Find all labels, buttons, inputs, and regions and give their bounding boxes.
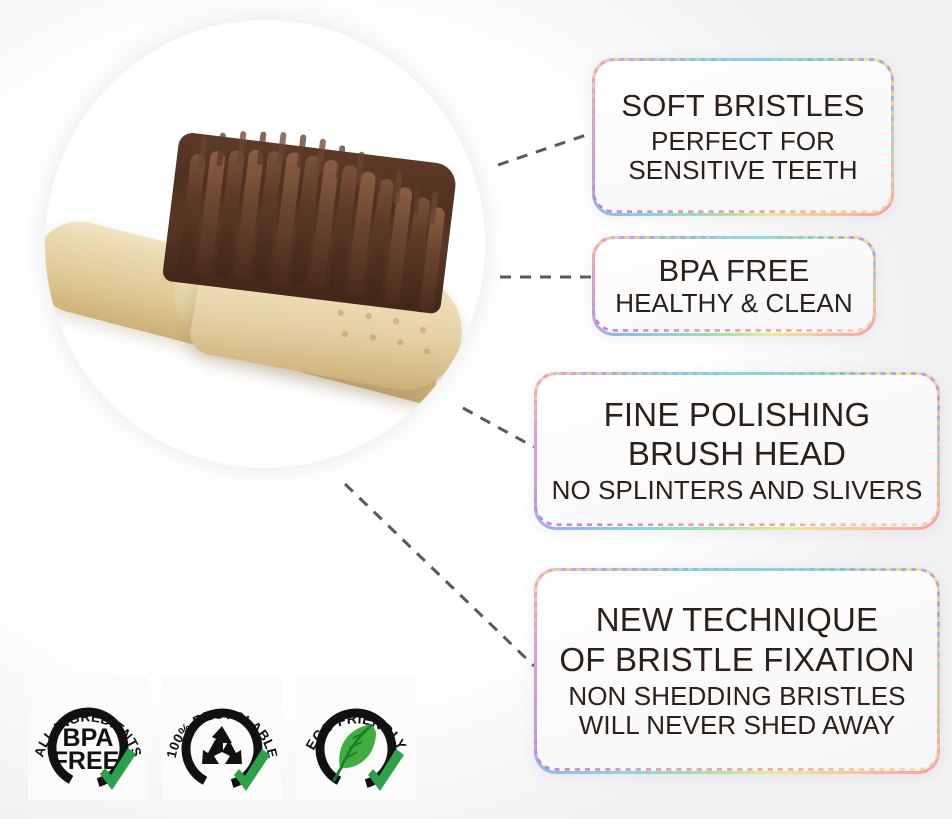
certification-badges: ALL INGREDIENTS BPA FREE 100% RECYCLABLE	[28, 676, 448, 800]
callout-title-line-2: BRUSH HEAD	[628, 436, 846, 472]
callout-bristle-fixation-inner: NEW TECHNIQUE OF BRISTLE FIXATION NON SH…	[537, 571, 937, 771]
callout-title: SOFT BRISTLES	[621, 89, 864, 122]
connector-bristle-fixation	[345, 484, 534, 666]
callout-subtitle-line-1: NO SPLINTERS AND SLIVERS	[552, 476, 923, 505]
eco-friendly-badge: ECO FRIENDLY	[296, 676, 416, 800]
brush-bristles	[162, 114, 460, 315]
eco-friendly-badge-svg: ECO FRIENDLY	[296, 676, 416, 800]
bristle-tufts-svg	[160, 114, 470, 328]
product-photo-circle	[45, 20, 485, 468]
callout-title-line-1: FINE POLISHING	[604, 397, 871, 433]
infographic-canvas: SOFT BRISTLES PERFECT FOR SENSITIVE TEET…	[0, 0, 952, 819]
callout-subtitle-line-1: NON SHEDDING BRISTLES	[568, 682, 905, 711]
callout-bpa-free: BPA FREE HEALTHY & CLEAN	[592, 236, 876, 336]
recycle-icon	[202, 726, 242, 764]
leaf-icon	[334, 724, 376, 780]
badge-center-line-2: FREE	[53, 747, 120, 775]
callout-bpa-free-inner: BPA FREE HEALTHY & CLEAN	[595, 239, 873, 333]
callout-title: BPA FREE	[659, 254, 810, 287]
bpa-free-badge-svg: ALL INGREDIENTS BPA FREE	[28, 676, 148, 800]
callout-subtitle-line-1: HEALTHY & CLEAN	[615, 289, 853, 318]
callout-subtitle-line-2: SENSITIVE TEETH	[628, 156, 857, 185]
bpa-free-badge: ALL INGREDIENTS BPA FREE	[28, 676, 148, 800]
callout-soft-bristles-inner: SOFT BRISTLES PERFECT FOR SENSITIVE TEET…	[595, 61, 891, 213]
callout-bristle-fixation: NEW TECHNIQUE OF BRISTLE FIXATION NON SH…	[534, 568, 940, 774]
callout-fine-polishing-inner: FINE POLISHING BRUSH HEAD NO SPLINTERS A…	[537, 375, 937, 527]
recyclable-badge-svg: 100% RECYCLABLE	[162, 676, 282, 800]
callout-subtitle-line-1: PERFECT FOR	[651, 127, 835, 156]
callout-soft-bristles: SOFT BRISTLES PERFECT FOR SENSITIVE TEET…	[592, 58, 894, 216]
recyclable-badge: 100% RECYCLABLE	[162, 676, 282, 800]
callout-title-line-2: OF BRISTLE FIXATION	[559, 642, 914, 678]
callout-title-line-1: NEW TECHNIQUE	[596, 602, 879, 638]
connector-soft-bristles	[498, 133, 592, 165]
callout-subtitle-line-2: WILL NEVER SHED AWAY	[579, 711, 895, 740]
callout-fine-polishing: FINE POLISHING BRUSH HEAD NO SPLINTERS A…	[534, 372, 940, 530]
